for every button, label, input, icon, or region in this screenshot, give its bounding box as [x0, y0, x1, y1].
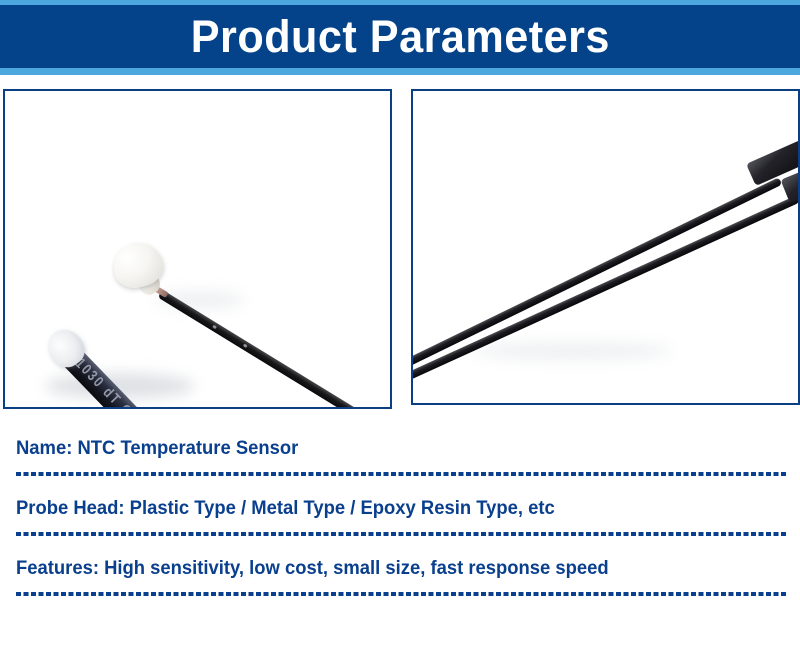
spec-row-divider	[16, 472, 786, 476]
product-photo-left[interactable]: 1030 dT C8T MOrUV BGEGFI JIEE	[3, 89, 392, 409]
page-title: Product Parameters	[190, 14, 609, 59]
header-banner: Product Parameters	[0, 5, 800, 68]
product-photo-right[interactable]	[411, 89, 800, 405]
thin-black-wire	[158, 290, 376, 409]
spec-row-name: Name: NTC Temperature Sensor	[0, 430, 800, 490]
specification-list: Name: NTC Temperature Sensor Probe Head:…	[0, 430, 800, 610]
photo-shadow	[473, 341, 673, 361]
spec-row-probe-head-text: Probe Head: Plastic Type / Metal Type / …	[16, 498, 555, 520]
spec-row-divider	[16, 532, 786, 536]
spec-row-divider	[16, 592, 786, 596]
product-photo-right-canvas	[413, 91, 798, 403]
header-bottom-accent-strip	[0, 68, 800, 75]
spec-row-name-text: Name: NTC Temperature Sensor	[16, 438, 298, 460]
spec-row-features: Features: High sensitivity, low cost, sm…	[0, 550, 800, 610]
spec-row-features-text: Features: High sensitivity, low cost, sm…	[16, 558, 609, 580]
product-parameters-page: Product Parameters 1030 dT C8T MOrUV BGE…	[0, 0, 800, 669]
product-photo-left-canvas: 1030 dT C8T MOrUV BGEGFI JIEE	[5, 91, 390, 407]
wire-highlight-dot	[243, 343, 248, 348]
sensor-cable-upper	[411, 177, 782, 368]
wire-highlight-dot	[212, 325, 217, 330]
spec-row-probe-head: Probe Head: Plastic Type / Metal Type / …	[0, 490, 800, 550]
